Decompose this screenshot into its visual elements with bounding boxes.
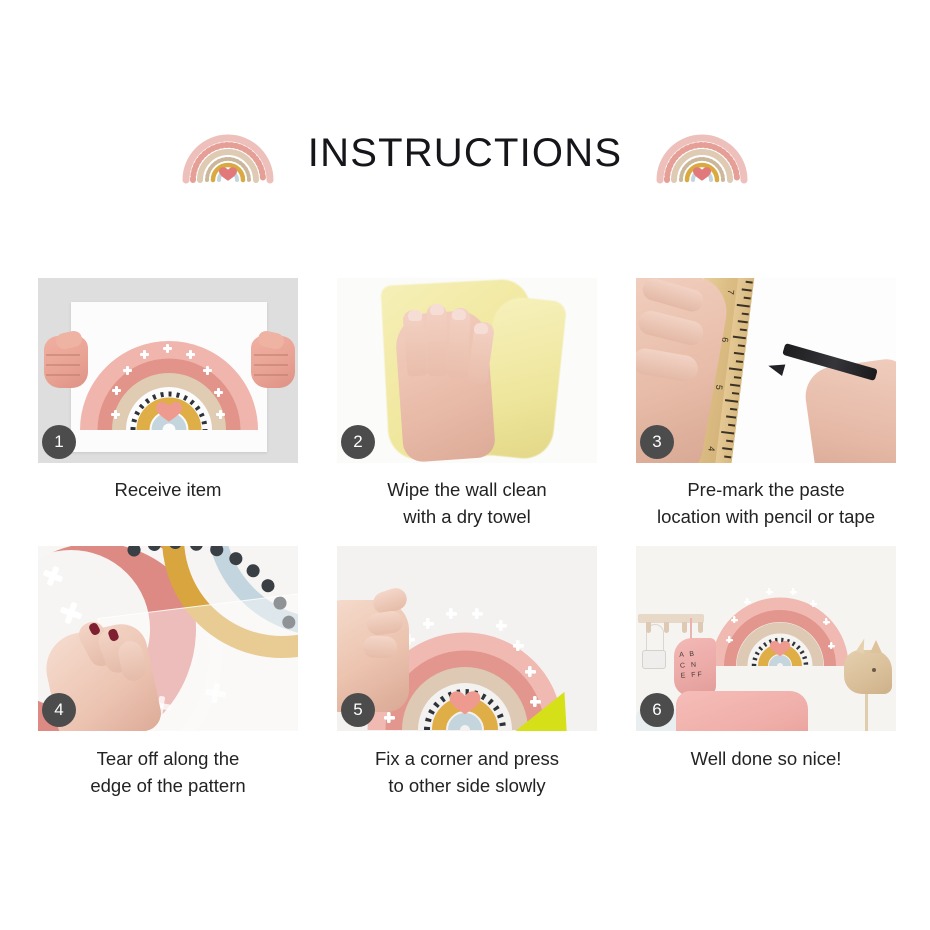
toy-camera	[642, 650, 666, 669]
ruler-number: 7	[726, 289, 737, 295]
ruler-number: 5	[714, 384, 725, 390]
step-badge-4: 4	[42, 693, 76, 727]
step-3-image: 7 6 5 4 3	[636, 278, 896, 463]
step-6-image: A B C N E FF 6	[636, 546, 896, 731]
step-4-caption: Tear off along the edge of the pattern	[38, 745, 298, 800]
knuckle-line	[46, 364, 80, 366]
fingernail	[430, 304, 444, 315]
step-3-caption: Pre-mark the paste location with pencil …	[636, 476, 896, 531]
instruction-step-4: 4 Tear off along the edge of the pattern	[38, 546, 298, 800]
instruction-steps-grid: 1 Receive item 2 Wipe the wall clean wit…	[38, 278, 896, 800]
horse-ear	[870, 640, 882, 653]
fingernail	[408, 310, 422, 321]
step-badge-3: 3	[640, 425, 674, 459]
step-badge-5: 5	[341, 693, 375, 727]
step-2-caption: Wipe the wall clean with a dry towel	[337, 476, 597, 531]
fingernail	[452, 309, 466, 320]
step-badge-6: 6	[640, 693, 674, 727]
step-badge-1: 1	[42, 425, 76, 459]
pink-pillow	[676, 691, 808, 731]
printed-sheet	[71, 302, 267, 452]
step-5-image: 5	[337, 546, 597, 731]
rainbow-icon-right	[656, 122, 748, 184]
ruler-number: 4	[706, 446, 717, 452]
rainbow-icon-left	[182, 122, 274, 184]
knuckle-line	[46, 354, 80, 356]
instruction-step-2: 2 Wipe the wall clean with a dry towel	[337, 278, 597, 531]
knuckle-line	[254, 364, 288, 366]
step-badge-2: 2	[341, 425, 375, 459]
peg	[646, 622, 651, 633]
pen-tip	[767, 360, 786, 376]
finger	[363, 635, 398, 658]
knuckle-line	[254, 354, 288, 356]
instruction-step-6: A B C N E FF 6 Well done so nice!	[636, 546, 896, 800]
rainbow-decal-art	[71, 302, 267, 452]
knuckle-line	[46, 374, 80, 376]
instruction-step-1: 1 Receive item	[38, 278, 298, 531]
horse-eye	[872, 668, 876, 672]
instruction-step-5: 5 Fix a corner and press to other side s…	[337, 546, 597, 800]
wooden-unicorn-hobby-horse	[844, 650, 892, 694]
step-1-caption: Receive item	[38, 476, 298, 503]
pink-hanging-bag: A B C N E FF	[674, 638, 716, 696]
peg	[682, 622, 687, 633]
knuckle-line	[254, 374, 288, 376]
step-5-caption: Fix a corner and press to other side slo…	[337, 745, 597, 800]
step-1-image: 1	[38, 278, 298, 463]
step-4-image: 4	[38, 546, 298, 731]
instruction-step-3: 7 6 5 4 3 Pre-mark the paste location wi…	[636, 278, 896, 531]
page-title: INSTRUCTIONS	[308, 131, 622, 176]
step-6-caption: Well done so nice!	[636, 745, 896, 772]
cross-mark	[205, 688, 226, 697]
peg	[698, 622, 703, 633]
page-header: INSTRUCTIONS	[0, 110, 930, 196]
hobby-horse-stick	[865, 690, 868, 731]
peg	[664, 622, 669, 633]
bag-letters: A B C N E FF	[679, 649, 704, 682]
step-2-image: 2	[337, 278, 597, 463]
fingernail	[474, 323, 488, 334]
